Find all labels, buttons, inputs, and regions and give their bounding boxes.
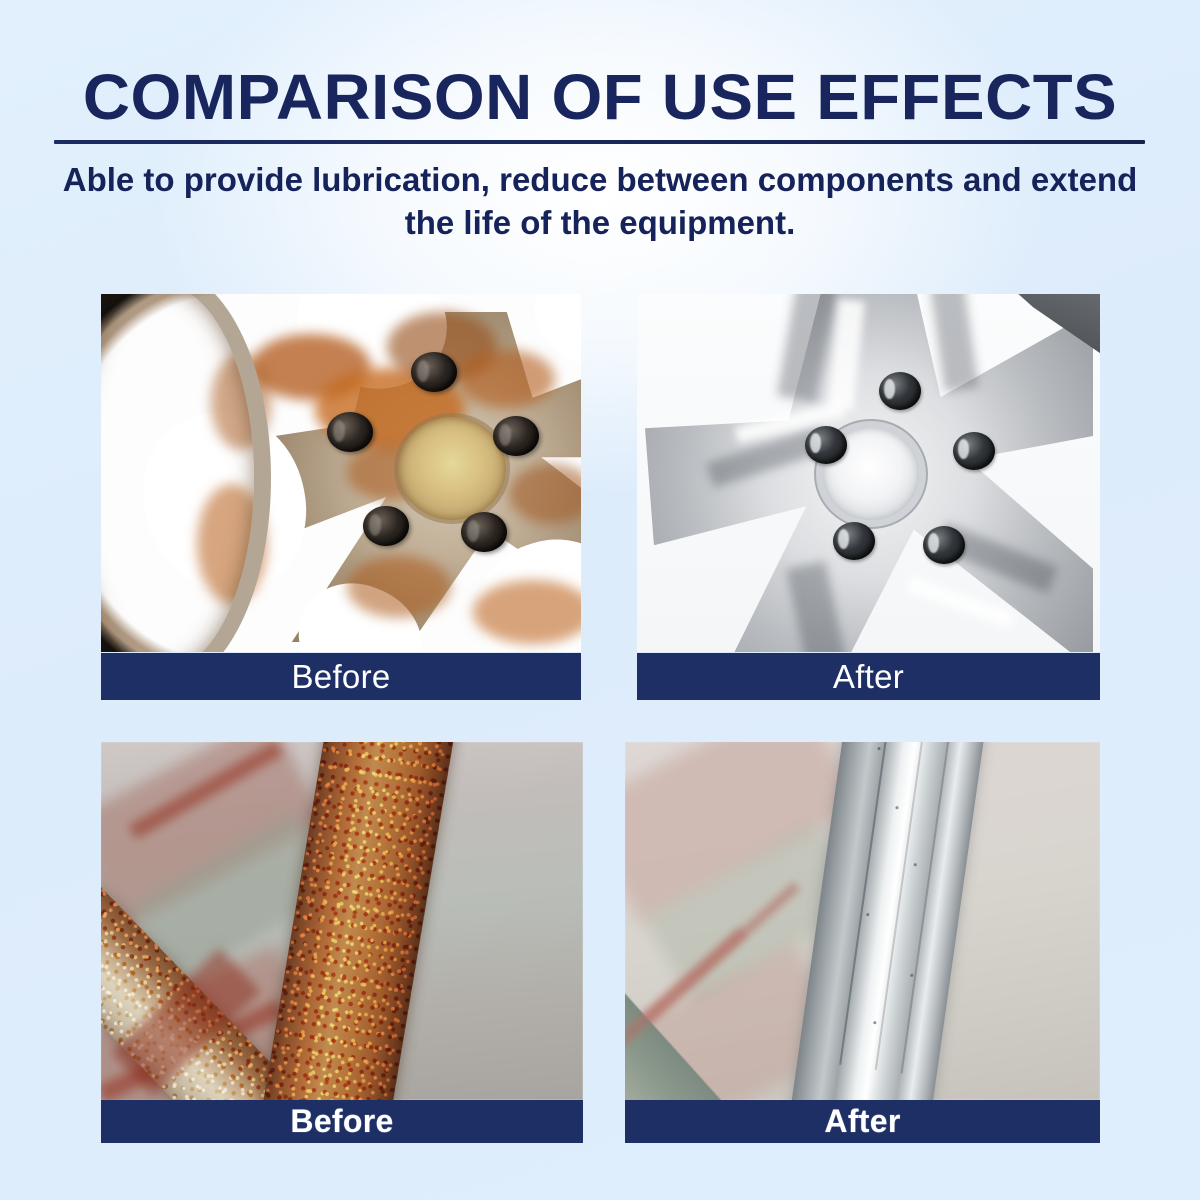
header: COMPARISON OF USE EFFECTS Able to provid… (0, 0, 1200, 132)
caption-label: After (833, 658, 904, 696)
caption-pole-before: Before (101, 1100, 583, 1143)
subtitle: Able to provide lubrication, reduce betw… (50, 158, 1150, 244)
caption-pole-after: After (625, 1100, 1100, 1143)
page-title: COMPARISON OF USE EFFECTS (0, 0, 1200, 132)
caption-label: Before (290, 1103, 393, 1140)
photo-clean-pole (625, 742, 1100, 1100)
image-panel-wheel-before (101, 294, 581, 652)
image-panel-wheel-after (637, 294, 1100, 652)
image-panel-pole-before (101, 742, 583, 1100)
photo-rusty-wheel (101, 294, 581, 652)
photo-clean-wheel (637, 294, 1100, 652)
caption-label: Before (291, 658, 390, 696)
caption-wheel-after: After (637, 653, 1100, 700)
caption-wheel-before: Before (101, 653, 581, 700)
title-divider (54, 140, 1145, 144)
caption-label: After (824, 1103, 900, 1140)
photo-rusty-pole (101, 742, 583, 1100)
image-panel-pole-after (625, 742, 1100, 1100)
